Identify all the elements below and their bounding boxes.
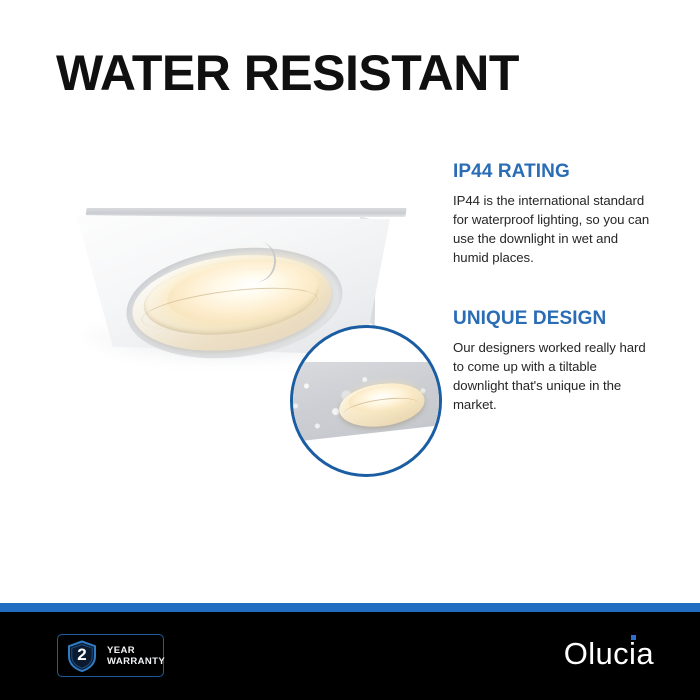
warranty-text: YEAR WARRANTY <box>107 645 165 667</box>
feature-title-ip44: IP44 RATING <box>453 160 653 183</box>
bezel-top-edge <box>85 208 406 217</box>
brand-logo-accent-dot <box>631 635 636 640</box>
brand-logo-suffix: a <box>636 636 654 671</box>
page-title: WATER RESISTANT <box>56 44 656 102</box>
feature-body-unique-design: Our designers worked really hard to come… <box>453 338 653 414</box>
brand-logo: Olucia <box>564 632 654 676</box>
product-image-inset <box>290 325 442 477</box>
brand-logo-prefix: Oluc <box>564 636 629 671</box>
marketing-banner: WATER RESISTANT <box>0 0 700 700</box>
warranty-number: 2 <box>65 639 99 673</box>
warranty-line-year: YEAR <box>107 645 165 656</box>
brand-logo-letter-i: i <box>629 632 636 676</box>
warranty-line-warranty: WARRANTY <box>107 656 165 667</box>
brand-logo-i-glyph: i <box>629 636 636 671</box>
warranty-badge: 2 YEAR WARRANTY <box>57 634 164 677</box>
feature-title-unique-design: UNIQUE DESIGN <box>453 307 653 330</box>
feature-block-ip44: IP44 RATING IP44 is the international st… <box>453 160 653 267</box>
shield-icon: 2 <box>65 639 99 673</box>
feature-block-unique-design: UNIQUE DESIGN Our designers worked reall… <box>453 307 653 414</box>
feature-body-ip44: IP44 is the international standard for w… <box>453 191 653 267</box>
accent-divider-bar <box>0 603 700 612</box>
footer-bar: 2 YEAR WARRANTY Olucia <box>0 612 700 700</box>
